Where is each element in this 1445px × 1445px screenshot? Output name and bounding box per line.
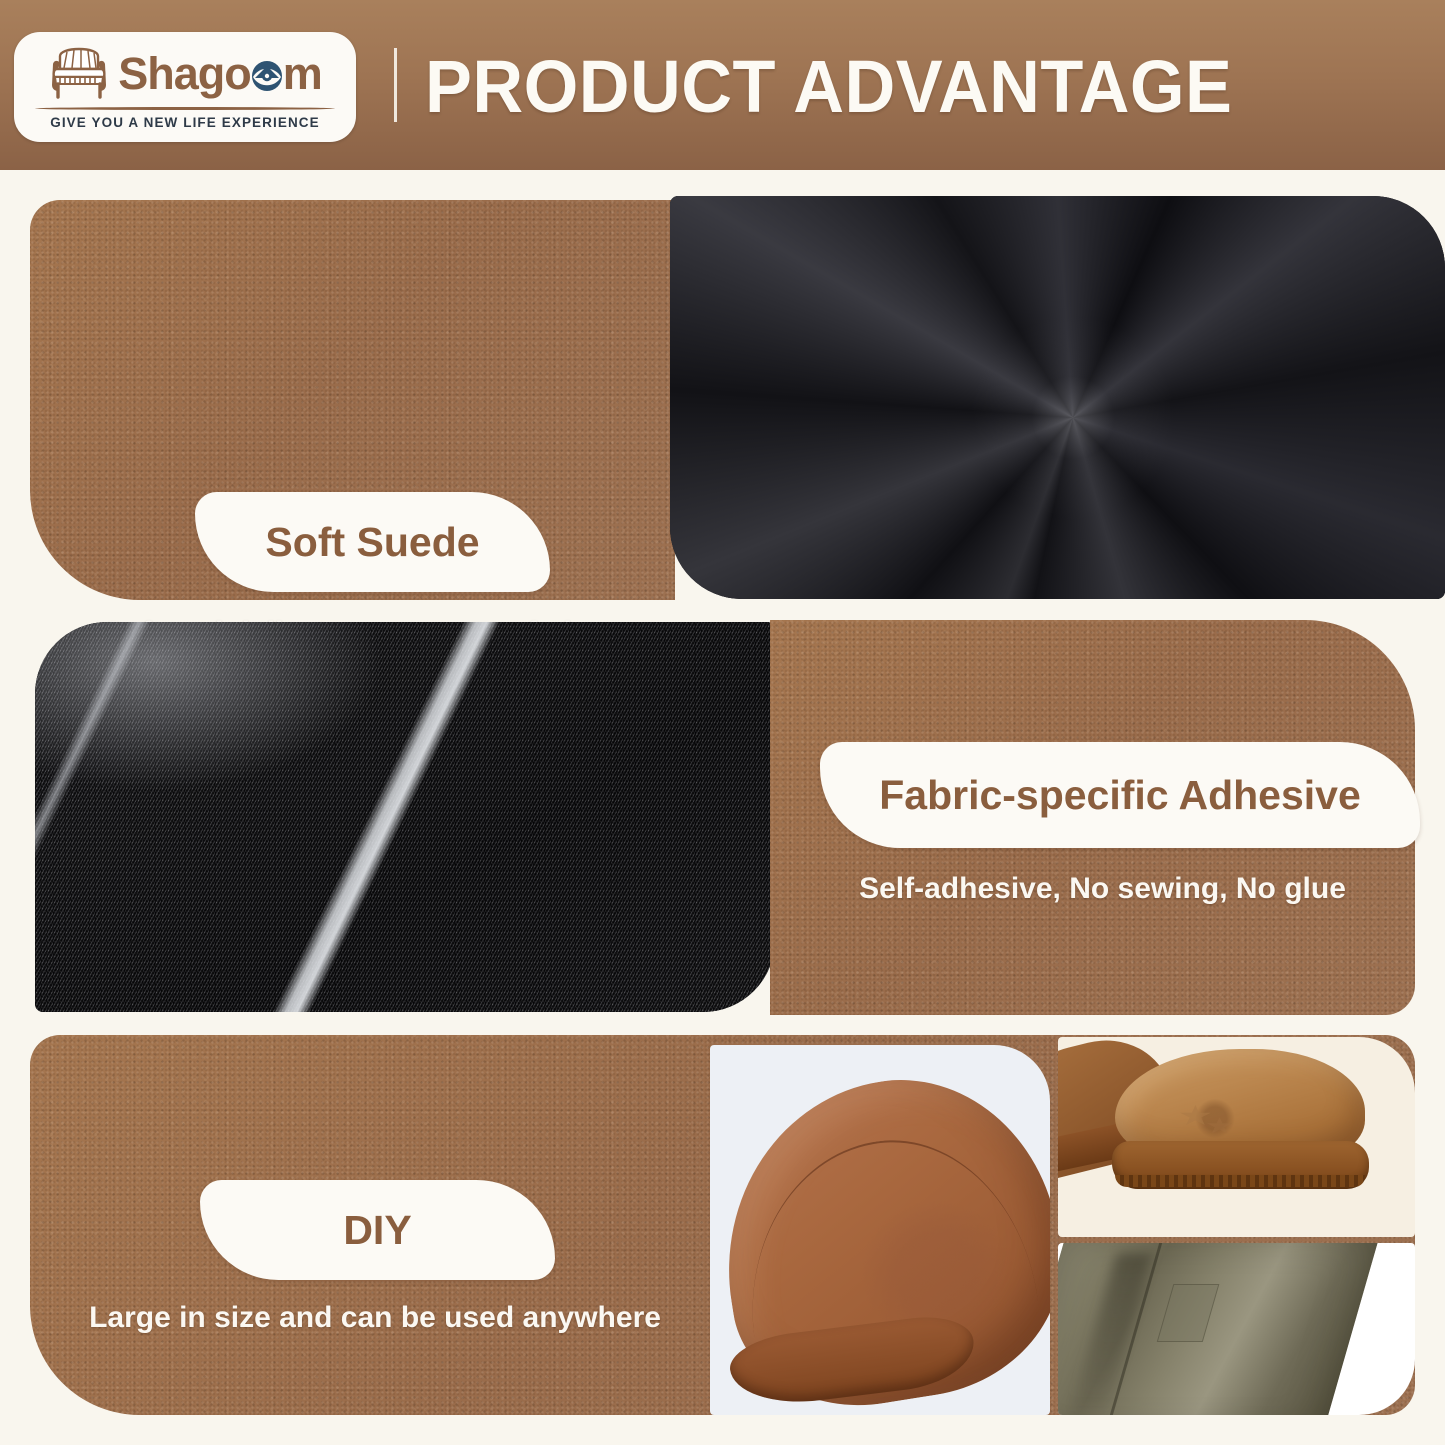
logo-wordmark-part2: o bbox=[224, 48, 251, 99]
logo-row: Shagom bbox=[48, 46, 322, 104]
feature-caption-line1: Large in size and can be used anywhere bbox=[45, 1297, 705, 1340]
feature-label-text: Soft Suede bbox=[265, 522, 479, 563]
feature-label-pill-soft-suede: Soft Suede bbox=[195, 492, 550, 592]
feature-caption-line1: Self-adhesive, No sewing, No glue bbox=[790, 868, 1415, 911]
photo-black-swirled-suede bbox=[670, 196, 1445, 599]
logo-eye-icon bbox=[250, 59, 284, 93]
photo-brown-suede-flat-cap bbox=[710, 1045, 1050, 1415]
feature-card-fabric-adhesive: Fabric-specific Adhesive Self-adhesive, … bbox=[30, 620, 1415, 1015]
feature-caption-diy: Large in size and can be used anywhere bbox=[45, 1297, 705, 1340]
logo-tagline: GIVE YOU A NEW LIFE EXPERIENCE bbox=[50, 115, 320, 130]
photo-tan-suede-platform-boot bbox=[1058, 1037, 1415, 1237]
photo-black-stitched-fabric bbox=[35, 622, 775, 1012]
logo-wordmark-part3: m bbox=[283, 48, 322, 99]
feature-label-text: Fabric-specific Adhesive bbox=[879, 775, 1361, 816]
infographic-page: Shagom GIVE YOU A NEW LIFE EXPERIENCE PR… bbox=[0, 0, 1445, 1445]
logo-wordmark-part1: Shag bbox=[118, 48, 224, 99]
header-divider bbox=[394, 48, 397, 122]
brand-logo: Shagom GIVE YOU A NEW LIFE EXPERIENCE bbox=[14, 32, 356, 142]
feature-label-text: DIY bbox=[343, 1210, 411, 1251]
logo-divider-rule bbox=[35, 107, 335, 110]
boot-sole-tread bbox=[1115, 1175, 1365, 1187]
page-title: PRODUCT ADVANTAGE bbox=[425, 40, 1232, 132]
fabric-stitch-texture bbox=[35, 622, 775, 1012]
feature-caption-fabric-adhesive: Self-adhesive, No sewing, No glue bbox=[790, 868, 1415, 911]
fabric-swirl-texture bbox=[670, 196, 1445, 599]
armchair-sofa-icon bbox=[48, 47, 110, 104]
logo-wordmark: Shagom bbox=[118, 51, 322, 96]
photo-olive-suede-garment bbox=[1058, 1243, 1415, 1415]
feature-label-pill-diy: DIY bbox=[200, 1180, 555, 1280]
feature-label-pill-fabric-adhesive: Fabric-specific Adhesive bbox=[820, 742, 1420, 848]
page-header: Shagom GIVE YOU A NEW LIFE EXPERIENCE PR… bbox=[0, 0, 1445, 170]
feature-card-soft-suede: Soft Suede Soft and delicate, not easy t… bbox=[30, 200, 1415, 600]
feature-card-diy: DIY Large in size and can be used anywhe… bbox=[30, 1035, 1415, 1415]
